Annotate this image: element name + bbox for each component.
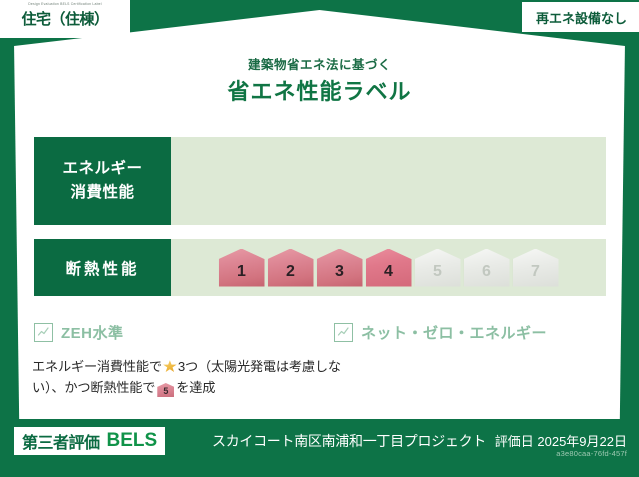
renewable-status-label: 再エネ設備なし xyxy=(536,8,627,27)
renewable-status-chip: 再エネ設備なし xyxy=(522,2,639,32)
evaluation-date-label: 評価日 xyxy=(495,434,534,449)
desc-part1: エネルギー消費性能で xyxy=(32,359,162,374)
title-block: 建築物省エネ法に基づく 省エネ性能ラベル xyxy=(0,56,639,108)
desc-part4: を達成 xyxy=(176,380,215,395)
star-rating xyxy=(171,137,606,225)
insulation-level-2: 2 xyxy=(268,249,314,287)
net-zero-label: ネット・ゼロ・エネルギー xyxy=(361,322,547,343)
insulation-level-5: 5 xyxy=(415,249,461,287)
title-main: 省エネ性能ラベル xyxy=(0,76,639,108)
project-name: スカイコート南区南浦和一丁目プロジェクト xyxy=(212,431,486,451)
energy-performance-label: Design Evaluation BELS Certification Lab… xyxy=(0,0,639,477)
insulation-scale: 1234567 xyxy=(171,239,606,296)
energy-label-line2: 消費性能 xyxy=(70,181,134,205)
inline-star-icon xyxy=(163,360,177,373)
insulation-level-4: 4 xyxy=(366,249,412,287)
evaluation-date: 評価日 2025年9月22日 xyxy=(495,431,627,450)
energy-performance-row: エネルギー 消費性能 xyxy=(34,137,606,225)
insulation-level-list: 1234567 xyxy=(219,249,559,287)
insulation-level-number: 6 xyxy=(482,264,491,287)
zeh-label: ZEH水準 xyxy=(61,322,124,343)
insulation-level-7: 7 xyxy=(513,249,559,287)
label-footer: 第三者評価 BELS スカイコート南区南浦和一丁目プロジェクト 評価日 2025… xyxy=(0,422,639,477)
bels-en-label: BELS xyxy=(107,430,158,452)
insulation-level-number: 5 xyxy=(433,264,442,287)
insulation-level-3: 3 xyxy=(317,249,363,287)
criterion-net-zero: ネット・ゼロ・エネルギー xyxy=(334,322,547,343)
energy-label-line1: エネルギー xyxy=(62,157,142,181)
criteria-description: エネルギー消費性能で3つ（太陽光発電は考慮しない）、かつ断熱性能で5を達成 xyxy=(32,356,372,398)
criterion-zeh: ZEH水準 xyxy=(34,322,334,343)
insulation-level-number: 7 xyxy=(531,264,540,287)
building-type-chip: Design Evaluation BELS Certification Lab… xyxy=(0,0,130,38)
building-type-label: 住宅（住棟） xyxy=(21,7,108,33)
zeh-checkbox-icon xyxy=(34,323,53,342)
evaluation-id: a3e80caa-76fd-457f xyxy=(556,449,627,458)
desc-part2: 3つ（太陽光発電 xyxy=(178,359,276,374)
insulation-level-number: 1 xyxy=(237,264,246,287)
insulation-performance-row: 断熱性能 1234567 xyxy=(34,239,606,296)
insulation-level-6: 6 xyxy=(464,249,510,287)
title-subtitle: 建築物省エネ法に基づく xyxy=(0,56,639,74)
inline-house-icon: 5 xyxy=(157,383,174,397)
insulation-level-1: 1 xyxy=(219,249,265,287)
insulation-level-number: 4 xyxy=(384,264,393,287)
insulation-level-number: 2 xyxy=(286,264,295,287)
net-zero-checkbox-icon xyxy=(334,323,353,342)
evaluation-date-value: 2025年9月22日 xyxy=(537,434,627,449)
criteria-row: ZEH水準 ネット・ゼロ・エネルギー xyxy=(34,322,606,343)
bels-badge: 第三者評価 BELS xyxy=(14,427,165,455)
bels-jp-label: 第三者評価 xyxy=(22,429,100,453)
insulation-level-number: 3 xyxy=(335,264,344,287)
insulation-performance-label: 断熱性能 xyxy=(34,239,171,296)
micro-note-text: Design Evaluation BELS Certification Lab… xyxy=(28,1,101,8)
energy-performance-label: エネルギー 消費性能 xyxy=(34,137,171,225)
